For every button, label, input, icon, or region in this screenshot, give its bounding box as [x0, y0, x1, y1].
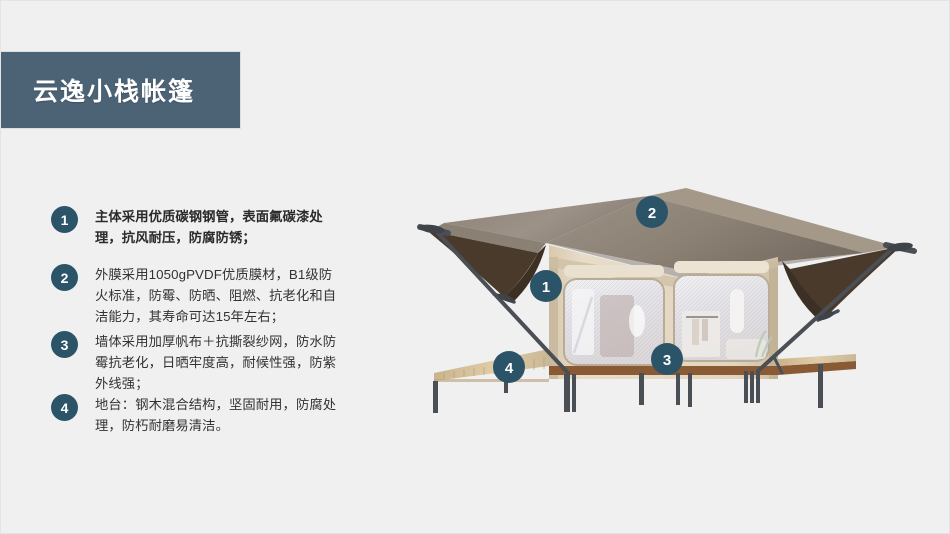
feature-badge-4: 4	[51, 394, 78, 421]
feature-text-4: 地台：钢木混合结构，坚固耐用，防腐处理，防朽耐磨易清洁。	[95, 394, 345, 436]
page-title: 云逸小栈帐篷	[1, 72, 195, 108]
list-item: 2 外膜采用1050gPVDF优质膜材，B1级防火标准，防霉、防晒、阻燃、抗老化…	[51, 264, 345, 327]
window-left	[564, 279, 664, 365]
title-banner: 云逸小栈帐篷	[1, 51, 241, 129]
feature-badge-3: 3	[51, 331, 78, 358]
feature-badge-2: 2	[51, 264, 78, 291]
list-item: 3 墙体采用加厚帆布＋抗撕裂纱网，防水防霉抗老化，日晒牢度高，耐候性强，防紫外线…	[51, 331, 345, 394]
marker-3[interactable]: 3	[651, 343, 683, 375]
marker-2-label: 2	[648, 205, 656, 222]
feature-text-3: 墙体采用加厚帆布＋抗撕裂纱网，防水防霉抗老化，日晒牢度高，耐候性强，防紫外线强；	[95, 331, 345, 394]
tent-illustration: 1 2 3 4	[386, 161, 946, 441]
feature-text-2: 外膜采用1050gPVDF优质膜材，B1级防火标准，防霉、防晒、阻燃、抗老化和自…	[95, 264, 345, 327]
list-item: 1 主体采用优质碳钢钢管，表面氟碳漆处理，抗风耐压，防腐防锈；	[51, 206, 345, 248]
feature-badge-1: 1	[51, 206, 78, 233]
marker-2[interactable]: 2	[636, 196, 668, 228]
marker-4-label: 4	[505, 360, 514, 377]
feature-text-1: 主体采用优质碳钢钢管，表面氟碳漆处理，抗风耐压，防腐防锈；	[95, 206, 345, 248]
marker-3-label: 3	[663, 352, 671, 369]
marker-4[interactable]: 4	[493, 351, 525, 383]
list-item: 4 地台：钢木混合结构，坚固耐用，防腐处理，防朽耐磨易清洁。	[51, 394, 345, 436]
slide-canvas: 云逸小栈帐篷 1 主体采用优质碳钢钢管，表面氟碳漆处理，抗风耐压，防腐防锈； 2…	[0, 0, 950, 534]
marker-1[interactable]: 1	[530, 270, 562, 302]
marker-1-label: 1	[542, 279, 550, 296]
window-right	[674, 275, 772, 361]
